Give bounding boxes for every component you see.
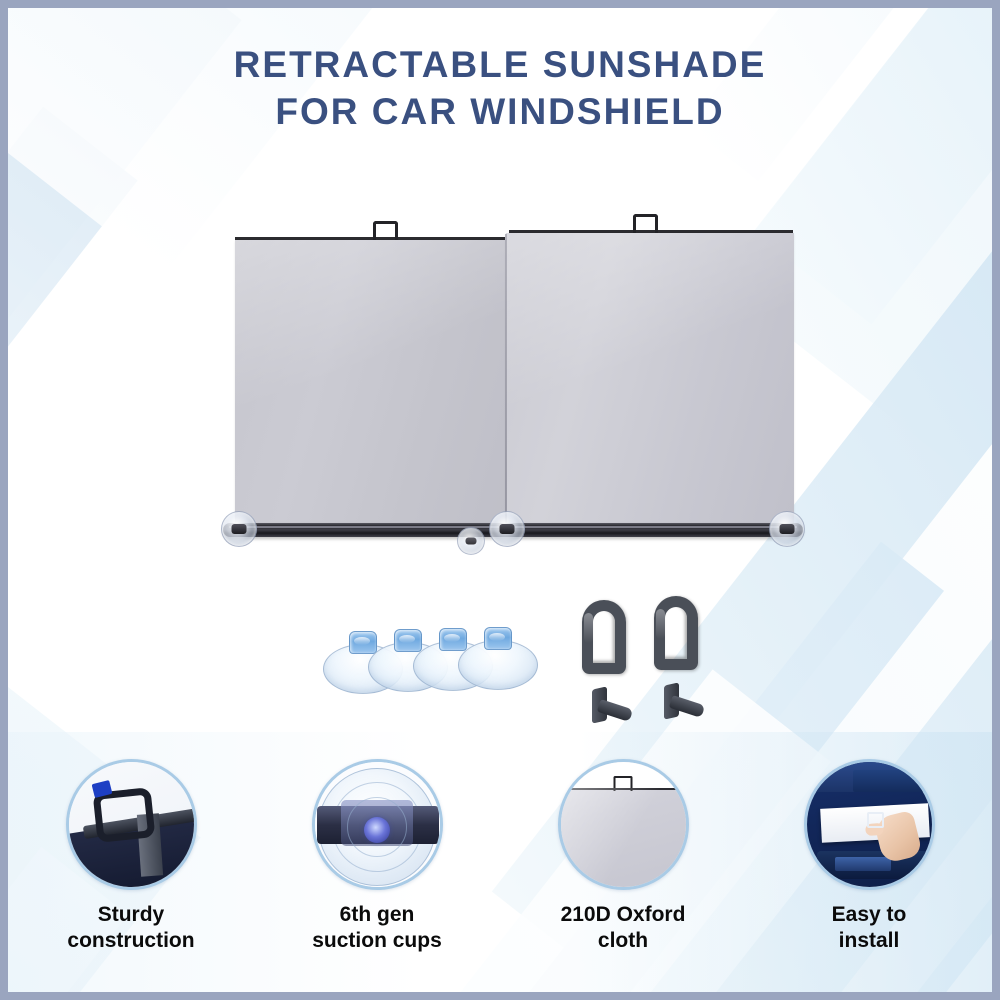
top-clip-right-icon xyxy=(633,214,658,234)
product-poster: RETRACTABLE SUNSHADE FOR CAR WINDSHIELD xyxy=(0,0,1000,1000)
suction-core-shape xyxy=(364,817,390,843)
suction-cup-4 xyxy=(458,640,538,690)
suction-cup-knob-icon xyxy=(439,628,467,651)
car-visor-shape xyxy=(853,770,925,792)
feature-oxford-cloth: 210D Oxford cloth xyxy=(513,759,733,955)
suction-cup-knob-icon xyxy=(394,629,422,652)
feature-label: Easy to install xyxy=(759,902,979,955)
bar-suction-cup-spare xyxy=(457,527,485,555)
feature-icon-oxford-cloth xyxy=(558,759,689,890)
sunshade-panel-right xyxy=(506,233,794,525)
page-title: RETRACTABLE SUNSHADE FOR CAR WINDSHIELD xyxy=(8,42,992,136)
suction-cup-knob-icon xyxy=(484,627,512,650)
feature-list: Sturdy construction 6th gen suction cups xyxy=(8,759,992,974)
title-line-2: FOR CAR WINDSHIELD xyxy=(8,89,992,136)
bar-suction-cup-center xyxy=(489,511,525,547)
bar-suction-cup-right xyxy=(769,511,805,547)
feature-icon-sturdy-construction xyxy=(66,759,197,890)
suction-cup-set xyxy=(323,628,538,698)
hand-installing-shade-icon xyxy=(807,762,932,887)
visor-hook-tip-icon xyxy=(664,684,704,718)
visor-hook-1 xyxy=(578,600,634,708)
suction-cup-knob-icon xyxy=(349,631,377,654)
car-console-shape xyxy=(835,857,891,871)
feature-sturdy-construction: Sturdy construction xyxy=(21,759,241,955)
visor-hook-loop-icon xyxy=(654,596,698,670)
poster-canvas: RETRACTABLE SUNSHADE FOR CAR WINDSHIELD xyxy=(8,8,992,992)
visor-hook-tip-icon xyxy=(592,688,632,722)
feature-icon-suction-cups xyxy=(312,759,443,890)
feature-icon-easy-install xyxy=(804,759,935,890)
install-clip-icon xyxy=(867,812,884,828)
bracket-rail-closeup-icon xyxy=(69,762,194,887)
decor-diagonal-top-left-2 xyxy=(8,107,138,520)
title-line-1: RETRACTABLE SUNSHADE xyxy=(8,42,992,89)
visor-hook-set xyxy=(578,596,718,706)
visor-hook-2 xyxy=(650,596,706,704)
panel-seam xyxy=(505,234,507,525)
sunshade-panel-left xyxy=(235,240,506,525)
feature-label: 210D Oxford cloth xyxy=(513,902,733,955)
feature-label: Sturdy construction xyxy=(21,902,241,955)
feature-easy-install: Easy to install xyxy=(759,759,979,955)
feature-label: 6th gen suction cups xyxy=(267,902,487,955)
product-hero-image xyxy=(213,208,813,563)
feature-suction-cups: 6th gen suction cups xyxy=(267,759,487,955)
visor-hook-loop-icon xyxy=(582,600,626,674)
bar-suction-cup-left xyxy=(221,511,257,547)
accessories-group xyxy=(323,596,723,711)
suction-cup-macro-icon xyxy=(315,762,440,887)
top-clip-left-icon xyxy=(373,221,398,241)
fabric-sheen-overlay xyxy=(561,788,686,887)
fabric-swatch-icon xyxy=(561,762,686,887)
